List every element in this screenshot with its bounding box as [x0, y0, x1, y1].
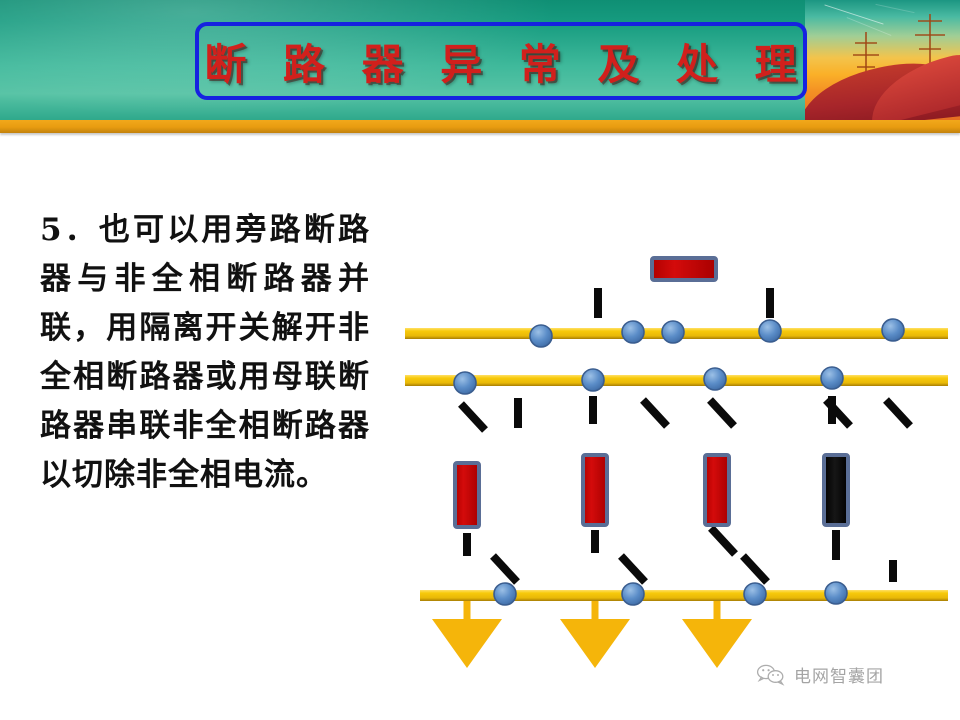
node-upper-3 — [662, 321, 684, 343]
feeder-breaker-1 — [455, 463, 479, 527]
bypass-breaker — [652, 258, 716, 280]
feeder-arrow-group — [467, 595, 717, 640]
node-group — [454, 319, 904, 605]
body-paragraph: 5．也可以用旁路断路器与非全相断路器并联，用隔离开关解开非全相断路器或用母联断路… — [40, 206, 370, 500]
disconnector-open-load-1 — [493, 556, 517, 582]
node-lower-1 — [454, 372, 476, 394]
feeder-breaker-2 — [583, 455, 607, 525]
disconnector-open-bay2-bus-i — [643, 400, 667, 426]
light-streak-icon — [875, 4, 914, 13]
disconnector-open-bay-right — [886, 400, 910, 426]
bus-group — [405, 328, 948, 601]
node-lower-4 — [821, 367, 843, 389]
conductor-group — [465, 265, 893, 595]
watermark-text: 电网智囊团 — [794, 662, 884, 687]
feeder-breaker-4 — [824, 455, 848, 525]
disconnector-open-bay4 — [826, 400, 850, 426]
node-upper-4 — [759, 320, 781, 342]
node-lower-3 — [704, 368, 726, 390]
node-load-3 — [744, 583, 766, 605]
node-upper-2 — [622, 321, 644, 343]
disconnector-open-bay3-out — [711, 528, 735, 554]
wechat-icon — [756, 663, 786, 687]
node-load-2 — [622, 583, 644, 605]
bus-ii-lower — [405, 375, 948, 386]
node-upper-5 — [882, 319, 904, 341]
node-load-1 — [494, 583, 516, 605]
title-plate: 断 路 器 异 常 及 处 理 — [195, 22, 807, 100]
disconnector-open-bay3-bus-ii — [710, 400, 734, 426]
slide-title: 断 路 器 异 常 及 处 理 — [194, 31, 807, 92]
node-load-4 — [825, 582, 847, 604]
watermark: 电网智囊团 — [756, 662, 884, 687]
node-lower-2 — [582, 369, 604, 391]
bus-load — [420, 590, 948, 601]
header-gold-rule — [0, 120, 960, 133]
node-upper-1 — [530, 325, 552, 347]
header-artwork-transmission-towers — [805, 0, 960, 120]
breaker-group — [455, 258, 848, 527]
disconnector-open-bay1-bus-ii — [461, 404, 485, 430]
slide-header: 断 路 器 异 常 及 处 理 — [0, 0, 960, 120]
feeder-breaker-3 — [705, 455, 729, 525]
bus-i-upper — [405, 328, 948, 339]
light-streak-icon — [824, 4, 883, 24]
disconnector-open-load-3 — [743, 556, 767, 582]
disconnector-open-load-2 — [621, 556, 645, 582]
disconnector-group — [461, 288, 910, 582]
